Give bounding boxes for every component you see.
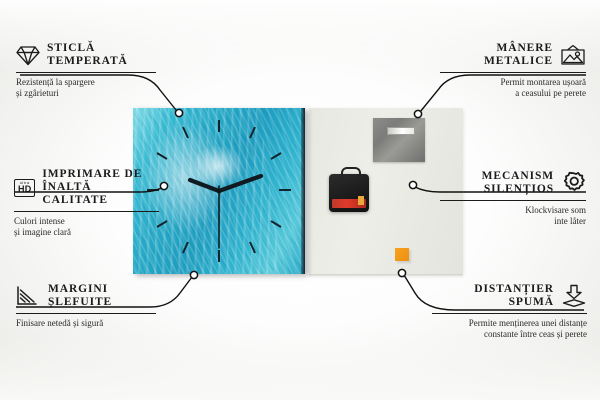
callout-title: STICLĂ TEMPERATĂ xyxy=(47,42,128,68)
product-image xyxy=(133,108,463,274)
callout-divider xyxy=(14,211,159,212)
callout-divider xyxy=(440,72,586,73)
picture-hanger-icon xyxy=(560,44,586,66)
callout-header: MARGINI ȘLEFUITE xyxy=(16,283,156,309)
ultra-hd-icon: ultra HD xyxy=(14,179,35,197)
metal-hanger-bracket xyxy=(373,118,425,162)
ultra-hd-big-label: HD xyxy=(18,185,31,194)
bevel-edge-icon xyxy=(16,285,41,307)
callout-divider xyxy=(432,313,587,314)
callout-mecanism-silentios[interactable]: MECANISM SILENȚIOS Klockvisare som inte … xyxy=(440,170,586,227)
callout-title: IMPRIMARE DE ÎNALTĂ CALITATE xyxy=(42,168,159,207)
callout-title: MARGINI ȘLEFUITE xyxy=(48,283,112,309)
callout-description: Finisare netedă și sigură xyxy=(16,318,156,329)
callout-header: STICLĂ TEMPERATĂ xyxy=(16,42,156,68)
callout-title: MECANISM SILENȚIOS xyxy=(482,170,554,196)
callout-divider xyxy=(16,313,156,314)
glass-edge xyxy=(301,108,305,274)
infographic-canvas: STICLĂ TEMPERATĂ Rezistență la spargere … xyxy=(0,0,600,400)
callout-header: MÂNERE METALICE xyxy=(440,42,586,68)
callout-header: ultra HD IMPRIMARE DE ÎNALTĂ CALITATE xyxy=(14,168,159,207)
callout-header: MECANISM SILENȚIOS xyxy=(440,170,586,196)
callout-title: DISTANȚIER SPUMĂ xyxy=(474,283,554,309)
callout-description: Rezistență la spargere și zgârieturi xyxy=(16,77,156,99)
clock-mechanism xyxy=(329,174,369,212)
foam-spacer xyxy=(395,248,409,261)
diamond-icon xyxy=(16,45,40,66)
hanger-slot xyxy=(387,127,415,135)
callout-divider xyxy=(16,72,156,73)
battery-terminal xyxy=(358,196,364,205)
callout-header: DISTANȚIER SPUMĂ xyxy=(432,283,587,309)
callout-imprimare-calitate[interactable]: ultra HD IMPRIMARE DE ÎNALTĂ CALITATE Cu… xyxy=(14,168,159,238)
callout-distantier-spuma[interactable]: DISTANȚIER SPUMĂ Permite menținerea unei… xyxy=(432,283,587,340)
gear-icon xyxy=(561,171,586,196)
foam-spacer-icon xyxy=(561,284,587,308)
callout-margini-slefuite[interactable]: MARGINI ȘLEFUITE Finisare netedă și sigu… xyxy=(16,283,156,329)
callout-description: Permite menținerea unei distanțe constan… xyxy=(432,318,587,340)
callout-title: MÂNERE METALICE xyxy=(484,42,553,68)
callout-sticla-temperata[interactable]: STICLĂ TEMPERATĂ Rezistență la spargere … xyxy=(16,42,156,99)
callout-description: Klockvisare som inte låter xyxy=(440,205,586,227)
battery xyxy=(332,199,366,208)
callout-description: Culori intense și imagine clară xyxy=(14,216,159,238)
mechanism-loop xyxy=(341,167,361,179)
callout-divider xyxy=(440,200,586,201)
callout-description: Permit montarea ușoară a ceasului pe per… xyxy=(440,77,586,99)
callout-manere-metalice[interactable]: MÂNERE METALICE Permit montarea ușoară a… xyxy=(440,42,586,99)
